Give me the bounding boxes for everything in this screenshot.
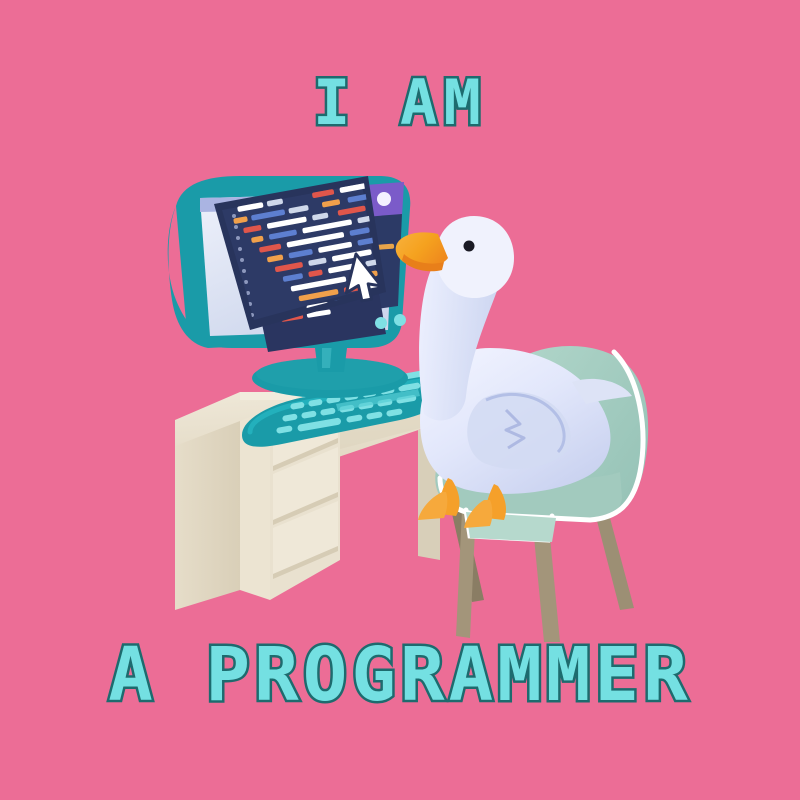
monitor[interactable] (168, 169, 463, 398)
indicator-dot-2 (394, 314, 406, 326)
goose-eye (464, 241, 475, 252)
title-top-text: I AM (313, 72, 487, 134)
title-bottom: A PROGRAMMER (0, 638, 800, 712)
indicator-dot-1 (375, 317, 387, 329)
poster-canvas: I AM A PROGRAMMER (0, 0, 800, 800)
goose-head[interactable] (436, 216, 514, 298)
desk-left-panel (175, 421, 240, 610)
title-bottom-text: A PROGRAMMER (108, 638, 691, 712)
title-top: I AM (0, 72, 800, 134)
webcam-dot-icon (377, 192, 391, 206)
